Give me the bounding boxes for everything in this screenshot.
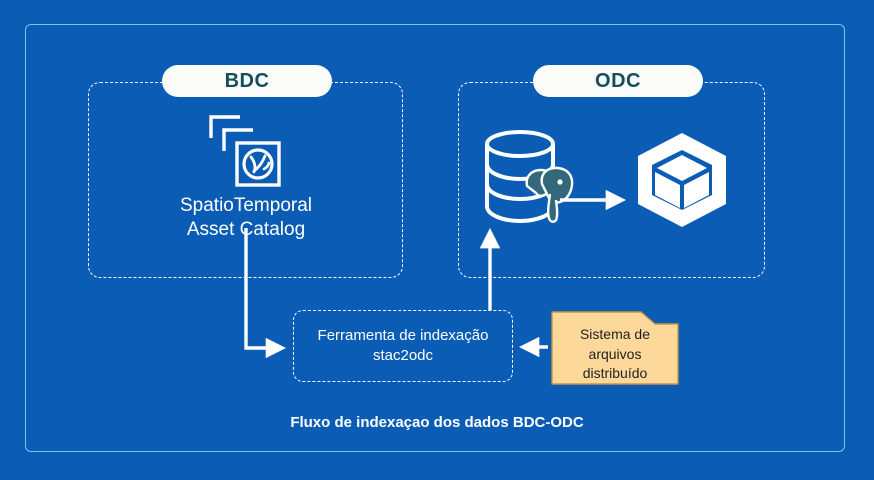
diagram-canvas: BDC SpatioTemporal Asset Catalog ODC (0, 0, 874, 480)
node-distributed-filesystem: Sistema de arquivos distribuído (551, 311, 679, 385)
connector-lines (0, 0, 874, 480)
figure-caption: Fluxo de indexaçao dos dados BDC-ODC (0, 414, 874, 431)
distributed-filesystem-label: Sistema de arquivos distribuído (551, 325, 679, 384)
node-indexing-tool: Ferramenta de indexação stac2odc (293, 310, 513, 382)
